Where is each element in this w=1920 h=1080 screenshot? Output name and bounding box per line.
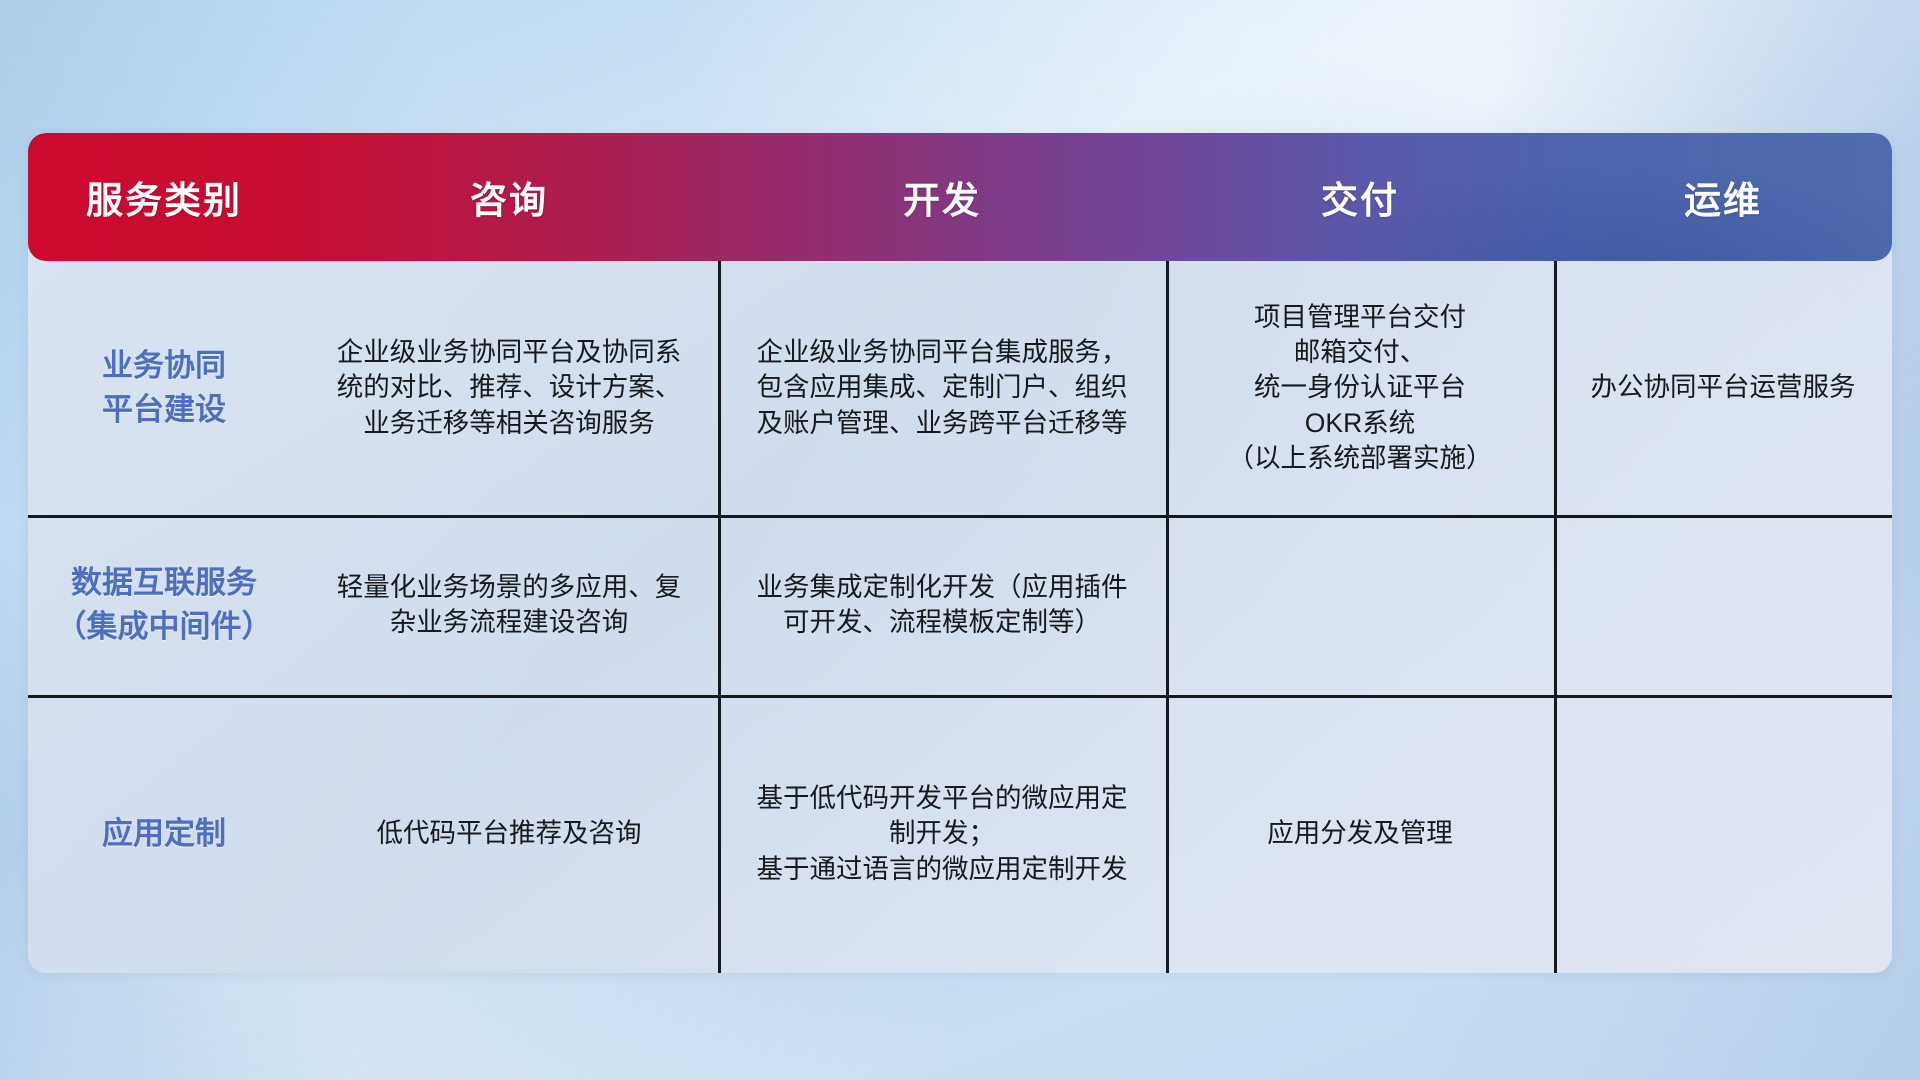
- cell-row2-consulting: 低代码平台推荐及咨询: [300, 695, 718, 973]
- column-header-category: 服务类别: [28, 170, 300, 224]
- row-divider: [28, 695, 1892, 698]
- row-label-data-interconnect: 数据互联服务 （集成中间件）: [28, 515, 300, 695]
- cell-row1-consulting: 轻量化业务场景的多应用、复 杂业务流程建设咨询: [300, 515, 718, 695]
- cell-row0-consulting: 企业级业务协同平台及协同系 统的对比、推荐、设计方案、 业务迁移等相关咨询服务: [300, 261, 718, 515]
- cell-row2-delivery: 应用分发及管理: [1166, 695, 1554, 973]
- row-label-app-customization: 应用定制: [28, 695, 300, 973]
- service-category-table: 服务类别 咨询 开发 交付 运维 业务协同 平台建设 企业级业务协同平台及协同系…: [28, 133, 1892, 973]
- table-row: 数据互联服务 （集成中间件） 轻量化业务场景的多应用、复 杂业务流程建设咨询 业…: [28, 515, 1892, 695]
- cell-row0-operations: 办公协同平台运营服务: [1554, 261, 1892, 515]
- cell-row2-development: 基于低代码开发平台的微应用定 制开发； 基于通过语言的微应用定制开发: [718, 695, 1166, 973]
- cell-row0-delivery: 项目管理平台交付 邮箱交付、 统一身份认证平台 OKR系统 （以上系统部署实施）: [1166, 261, 1554, 515]
- cell-row1-development: 业务集成定制化开发（应用插件 可开发、流程模板定制等）: [718, 515, 1166, 695]
- cell-row0-development: 企业级业务协同平台集成服务， 包含应用集成、定制门户、组织 及账户管理、业务跨平…: [718, 261, 1166, 515]
- column-header-delivery: 交付: [1166, 170, 1554, 224]
- row-divider: [28, 515, 1892, 518]
- table-header-row: 服务类别 咨询 开发 交付 运维: [28, 133, 1892, 261]
- row-label-business-collaboration: 业务协同 平台建设: [28, 261, 300, 515]
- cell-row1-delivery: [1166, 515, 1554, 695]
- column-divider: [1554, 261, 1557, 973]
- column-header-development: 开发: [718, 170, 1166, 224]
- column-divider: [718, 261, 721, 973]
- column-header-consulting: 咨询: [300, 170, 718, 224]
- cell-row1-operations: [1554, 515, 1892, 695]
- column-header-operations: 运维: [1554, 170, 1892, 224]
- cell-row2-operations: [1554, 695, 1892, 973]
- table-row: 应用定制 低代码平台推荐及咨询 基于低代码开发平台的微应用定 制开发； 基于通过…: [28, 695, 1892, 973]
- table-body: 业务协同 平台建设 企业级业务协同平台及协同系 统的对比、推荐、设计方案、 业务…: [28, 261, 1892, 973]
- table-row: 业务协同 平台建设 企业级业务协同平台及协同系 统的对比、推荐、设计方案、 业务…: [28, 261, 1892, 515]
- column-divider: [1166, 261, 1169, 973]
